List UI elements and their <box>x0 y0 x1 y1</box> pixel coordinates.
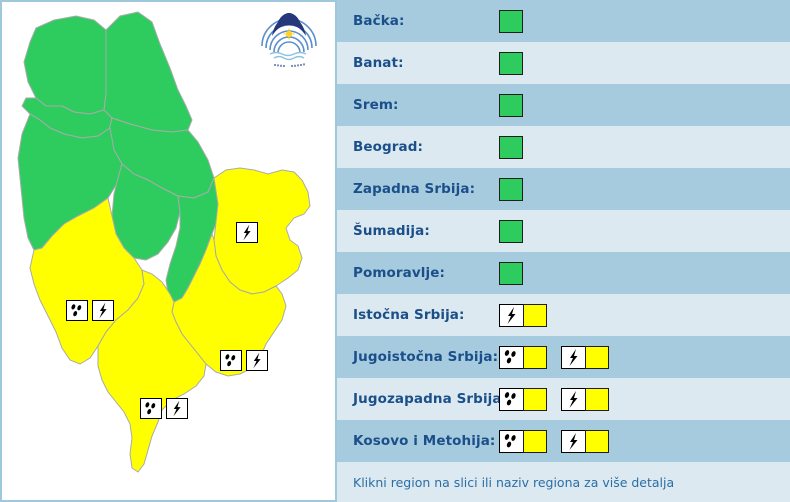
region-label: Jugoistočna Srbija: <box>353 349 499 365</box>
thunderstorm-icon <box>92 300 114 321</box>
footer-hint-text: Klikni region na slici ili naziv regiona… <box>353 475 674 490</box>
warning-badges <box>499 136 537 159</box>
region-row-zapadna-srbija[interactable]: Zapadna Srbija: <box>337 168 790 210</box>
warning-badge-yellow <box>561 346 609 369</box>
warning-badges <box>499 304 561 327</box>
region-label: Bačka: <box>353 13 499 29</box>
table-footer: Klikni region na slici ili naziv regiona… <box>337 462 790 502</box>
region-label: Kosovo i Metohija: <box>353 433 499 449</box>
color-swatch-icon <box>499 52 523 75</box>
rain-icon <box>140 398 162 419</box>
warning-badges <box>499 346 623 369</box>
serbia-map[interactable] <box>2 2 335 500</box>
warning-badges <box>499 178 537 201</box>
color-swatch-icon <box>499 94 523 117</box>
warning-badge-yellow <box>499 304 547 327</box>
region-label: Jugozapadna Srbija: <box>353 391 499 407</box>
region-row-jugozapadna-srbija[interactable]: Jugozapadna Srbija: <box>337 378 790 420</box>
map-badge-istocna-srbija[interactable] <box>236 222 258 243</box>
region-warning-table: Bačka:Banat:Srem:Beograd:Zapadna Srbija:… <box>337 0 790 502</box>
region-row-kosovo-i-metohija[interactable]: Kosovo i Metohija: <box>337 420 790 462</box>
rhmz-serbia-logo <box>258 6 320 72</box>
region-label: Banat: <box>353 55 499 71</box>
region-label: Beograd: <box>353 139 499 155</box>
region-row-pomoravlje[interactable]: Pomoravlje: <box>337 252 790 294</box>
color-swatch-icon <box>585 388 609 411</box>
warning-badge-green <box>499 262 523 285</box>
warning-badge-yellow <box>499 346 547 369</box>
warning-badges <box>499 220 537 243</box>
thunderstorm-icon <box>236 222 258 243</box>
color-swatch-icon <box>523 430 547 453</box>
map-region-istocna-srbija[interactable] <box>214 168 310 294</box>
warning-badges <box>499 10 537 33</box>
warning-badges <box>499 94 537 117</box>
region-row-jugoistocna-srbija[interactable]: Jugoistočna Srbija: <box>337 336 790 378</box>
rain-icon <box>499 388 523 411</box>
color-swatch-icon <box>499 136 523 159</box>
warning-badge-yellow <box>561 430 609 453</box>
warning-badge-green <box>499 94 523 117</box>
region-label: Pomoravlje: <box>353 265 499 281</box>
rain-icon <box>499 430 523 453</box>
thunderstorm-icon <box>499 304 523 327</box>
warning-badge-yellow <box>499 430 547 453</box>
rain-icon <box>499 346 523 369</box>
region-row-banat[interactable]: Banat: <box>337 42 790 84</box>
region-label: Istočna Srbija: <box>353 307 499 323</box>
thunderstorm-icon <box>561 430 585 453</box>
region-row-backa[interactable]: Bačka: <box>337 0 790 42</box>
map-region-banat[interactable] <box>104 12 192 132</box>
warning-badge-green <box>499 52 523 75</box>
warning-badge-yellow <box>499 388 547 411</box>
region-label: Šumadija: <box>353 223 499 239</box>
region-row-beograd[interactable]: Beograd: <box>337 126 790 168</box>
map-badge-jugozapadna-srbija[interactable] <box>66 300 114 321</box>
region-row-istocna-srbija[interactable]: Istočna Srbija: <box>337 294 790 336</box>
warning-badge-yellow <box>561 388 609 411</box>
warning-badge-green <box>499 220 523 243</box>
thunderstorm-icon <box>561 346 585 369</box>
color-swatch-icon <box>499 10 523 33</box>
color-swatch-icon <box>523 304 547 327</box>
color-swatch-icon <box>585 346 609 369</box>
warning-badges <box>499 430 623 453</box>
map-badge-kosovo-i-metohija[interactable] <box>140 398 188 419</box>
region-row-srem[interactable]: Srem: <box>337 84 790 126</box>
warning-badge-green <box>499 178 523 201</box>
warning-badges <box>499 388 623 411</box>
region-row-sumadija[interactable]: Šumadija: <box>337 210 790 252</box>
thunderstorm-icon <box>246 350 268 371</box>
color-swatch-icon <box>585 430 609 453</box>
weather-warning-page: Bačka:Banat:Srem:Beograd:Zapadna Srbija:… <box>0 0 790 502</box>
rain-icon <box>220 350 242 371</box>
warning-badges <box>499 262 537 285</box>
region-label: Srem: <box>353 97 499 113</box>
warning-badge-green <box>499 10 523 33</box>
thunderstorm-icon <box>561 388 585 411</box>
thunderstorm-icon <box>166 398 188 419</box>
color-swatch-icon <box>523 346 547 369</box>
warning-badge-green <box>499 136 523 159</box>
map-badge-jugoistocna-srbija[interactable] <box>220 350 268 371</box>
rain-icon <box>66 300 88 321</box>
color-swatch-icon <box>523 388 547 411</box>
color-swatch-icon <box>499 262 523 285</box>
region-label: Zapadna Srbija: <box>353 181 499 197</box>
color-swatch-icon <box>499 178 523 201</box>
map-panel[interactable] <box>0 0 337 502</box>
color-swatch-icon <box>499 220 523 243</box>
warning-badges <box>499 52 537 75</box>
